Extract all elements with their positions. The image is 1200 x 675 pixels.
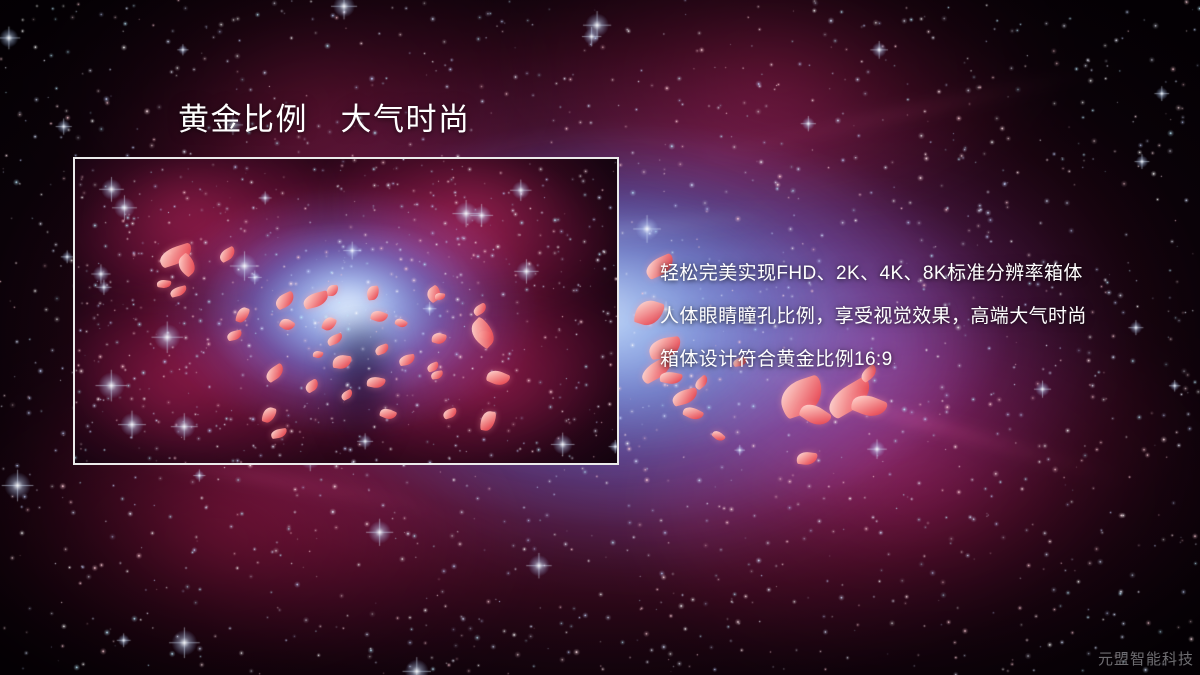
- company-watermark: 元盟智能科技: [1098, 648, 1194, 669]
- description-line-3: 箱体设计符合黄金比例16:9: [660, 338, 1160, 381]
- photo-starfield: [75, 159, 617, 463]
- description-line-1: 轻松完美实现FHD、2K、4K、8K标准分辨率箱体: [660, 252, 1160, 295]
- photo-content: [75, 159, 617, 463]
- presentation-slide: 黄金比例 大气时尚 轻松完美实现FHD、2K、4K、8K标准分辨率箱体 人体眼睛…: [0, 0, 1200, 675]
- description-block: 轻松完美实现FHD、2K、4K、8K标准分辨率箱体 人体眼睛瞳孔比例，享受视觉效…: [660, 252, 1160, 381]
- description-line-2: 人体眼睛瞳孔比例，享受视觉效果，高端大气时尚: [660, 295, 1160, 338]
- framed-product-image: [73, 157, 619, 465]
- page-title: 黄金比例 大气时尚: [178, 100, 471, 140]
